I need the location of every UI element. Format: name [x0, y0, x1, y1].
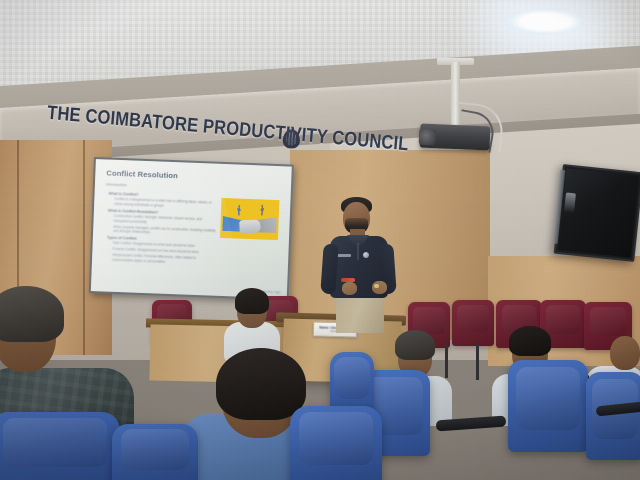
blue-chair	[508, 360, 588, 452]
blue-chair	[586, 372, 640, 460]
presenter-badge	[363, 252, 369, 258]
presenter-placket	[357, 243, 359, 260]
blue-chair	[290, 406, 382, 480]
audience-hair	[509, 326, 551, 356]
figure-left-icon	[237, 205, 241, 216]
ceiling-light-icon	[505, 8, 587, 35]
chair-leg	[476, 344, 479, 380]
projector-lens-icon	[419, 129, 437, 146]
audience-hair	[235, 288, 269, 314]
tv-screen-glare	[564, 192, 576, 213]
shell-emblem-logo-icon	[283, 129, 300, 148]
conference-room-photo: THE COIMBATORE PRODUCTIVITY COUNCIL Conf…	[0, 0, 640, 480]
projection-screen: Conflict Resolution Introduction What is…	[89, 157, 294, 301]
blue-chair	[112, 424, 198, 480]
blue-chair	[0, 412, 120, 480]
wall-mounted-tv	[554, 164, 640, 262]
audience-hair-grey	[395, 330, 435, 360]
audience-head	[610, 336, 640, 370]
presenter	[316, 196, 400, 326]
audience-hair-grey	[0, 286, 64, 342]
projection-screen-surface: Conflict Resolution Introduction What is…	[91, 159, 292, 298]
handshake-grip	[239, 220, 261, 234]
presenter-shirt-logo	[336, 254, 351, 257]
audience-hair	[216, 348, 306, 420]
presenter-trousers	[336, 295, 384, 333]
presenter-ring	[374, 284, 379, 288]
maroon-chair	[452, 300, 494, 346]
presenter-left-hand	[342, 282, 357, 295]
figure-right-icon	[260, 204, 264, 215]
